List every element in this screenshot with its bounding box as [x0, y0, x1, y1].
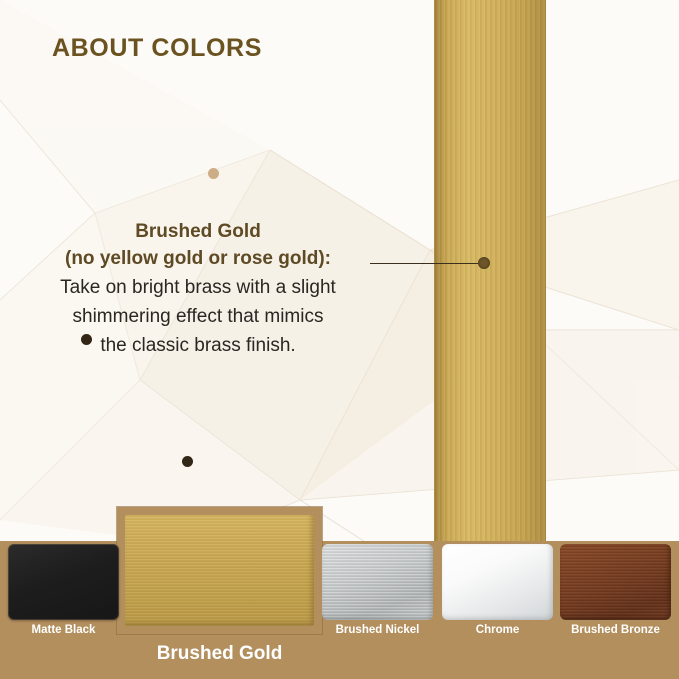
description-line-3: Take on bright brass with a slight — [28, 275, 368, 302]
swatch-brushed-nickel[interactable] — [322, 544, 433, 620]
swatch-label-chrome: Chrome — [442, 624, 553, 636]
description-line-2: (no yellow gold or rose gold): — [28, 246, 368, 273]
swatch-label-brushed-bronze: Brushed Bronze — [560, 624, 671, 636]
description-line-1: Brushed Gold — [28, 219, 368, 246]
featured-swatch-brushed-gold[interactable] — [117, 507, 322, 634]
decorative-dot-tan — [208, 168, 219, 179]
description-line-4: shimmering effect that mimics — [28, 304, 368, 331]
swatch-chrome[interactable] — [442, 544, 553, 620]
swatch-brushed-bronze[interactable] — [560, 544, 671, 620]
description-line-5: the classic brass finish. — [28, 333, 368, 360]
brushed-gold-sample-bar — [434, 0, 546, 545]
featured-swatch-label: Brushed Gold — [117, 643, 322, 665]
about-colors-infographic: ABOUT COLORS Brushed Gold (no yellow gol… — [0, 0, 679, 679]
page-title: ABOUT COLORS — [52, 34, 262, 63]
callout-leader-endpoint-dot — [478, 257, 490, 269]
decorative-dot-dark-lower — [182, 456, 193, 467]
featured-swatch-surface — [125, 515, 314, 626]
swatch-label-matte-black: Matte Black — [8, 624, 119, 636]
swatch-matte-black[interactable] — [8, 544, 119, 620]
brushed-gold-description: Brushed Gold (no yellow gold or rose gol… — [28, 219, 368, 360]
callout-leader-line — [370, 263, 484, 264]
swatch-label-brushed-nickel: Brushed Nickel — [322, 624, 433, 636]
